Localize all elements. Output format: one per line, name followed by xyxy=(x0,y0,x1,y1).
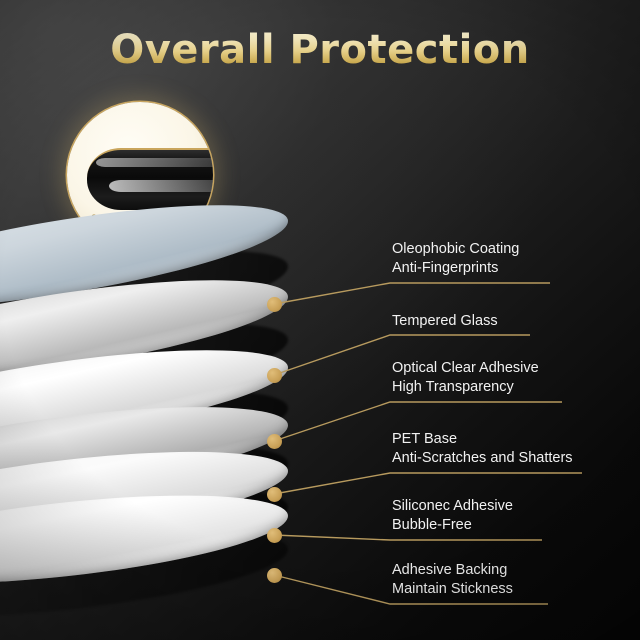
callout-dot-3[interactable] xyxy=(267,487,282,502)
callout-label-1-line1: Tempered Glass xyxy=(392,312,498,331)
leader-line-3 xyxy=(274,473,582,494)
layer-stack xyxy=(0,255,300,600)
callout-label-4-line1: Siliconec Adhesive xyxy=(392,497,513,516)
callout-label-0-line1: Oleophobic Coating xyxy=(392,240,519,259)
callout-label-0: Oleophobic CoatingAnti-Fingerprints xyxy=(392,240,519,278)
callout-label-1: Tempered Glass xyxy=(392,312,498,331)
callout-dot-1[interactable] xyxy=(267,368,282,383)
callout-label-4: Siliconec AdhesiveBubble-Free xyxy=(392,497,513,535)
callout-label-5-line2: Maintain Stickness xyxy=(392,580,513,599)
callout-label-3: PET BaseAnti-Scratches and Shatters xyxy=(392,430,573,468)
leader-line-0 xyxy=(274,283,550,304)
callout-dot-0[interactable] xyxy=(267,297,282,312)
callout-label-2-line2: High Transparency xyxy=(392,378,539,397)
callout-label-2: Optical Clear AdhesiveHigh Transparency xyxy=(392,359,539,397)
callout-label-5: Adhesive BackingMaintain Stickness xyxy=(392,561,513,599)
callout-dot-5[interactable] xyxy=(267,568,282,583)
phone-curved-edge-icon xyxy=(87,148,213,210)
callout-label-5-line1: Adhesive Backing xyxy=(392,561,513,580)
callout-dot-4[interactable] xyxy=(267,528,282,543)
callout-label-0-line2: Anti-Fingerprints xyxy=(392,259,519,278)
page-title: Overall Protection xyxy=(0,27,640,73)
callout-label-3-line2: Anti-Scratches and Shatters xyxy=(392,449,573,468)
callout-label-2-line1: Optical Clear Adhesive xyxy=(392,359,539,378)
callout-label-4-line2: Bubble-Free xyxy=(392,516,513,535)
screen-protector-infographic: Overall Protection 2.5D Curved-Edge Oleo… xyxy=(0,0,640,640)
callout-label-3-line1: PET Base xyxy=(392,430,573,449)
leader-line-4 xyxy=(274,535,542,540)
callout-dot-2[interactable] xyxy=(267,434,282,449)
